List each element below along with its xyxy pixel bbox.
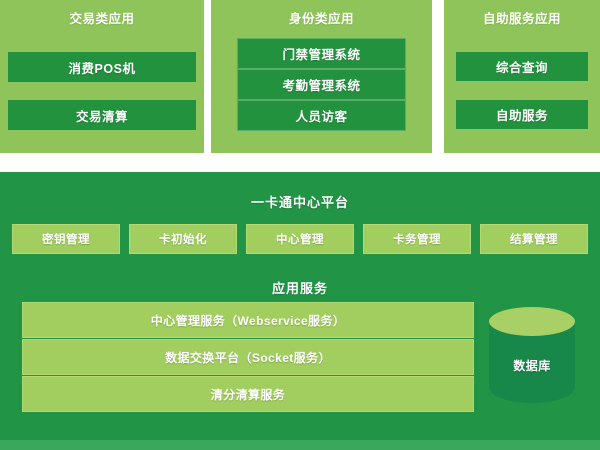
panel-title: 身份类应用 [211,8,432,27]
application-panel-transaction: 交易类应用 消费POS机 交易清算 [0,0,204,153]
application-service-rows: 中心管理服务（Webservice服务） 数据交换平台（Socket服务） 清分… [22,302,474,417]
app-item-box[interactable]: 交易清算 [8,100,196,130]
panel-title: 自助服务应用 [444,8,600,27]
stage-bottom-strip [0,440,600,450]
module-box[interactable]: 中心管理 [246,224,354,254]
database-top-icon [489,307,575,336]
database-label: 数据库 [489,357,575,374]
app-item-box[interactable]: 自助服务 [456,100,588,129]
application-service-title: 应用服务 [0,278,600,297]
module-box[interactable]: 结算管理 [480,224,588,254]
application-panel-identity: 身份类应用 门禁管理系统 考勤管理系统 人员访客 [211,0,432,153]
platform-stage: 一卡通中心平台 密钥管理 卡初始化 中心管理 卡务管理 结算管理 应用服务 中心… [0,172,600,440]
service-row[interactable]: 中心管理服务（Webservice服务） [22,302,474,338]
module-box[interactable]: 密钥管理 [12,224,120,254]
module-box[interactable]: 卡务管理 [363,224,471,254]
app-item-box[interactable]: 综合查询 [456,52,588,81]
app-item-box[interactable]: 考勤管理系统 [237,69,406,100]
app-item-box[interactable]: 消费POS机 [8,52,196,82]
service-row[interactable]: 清分清算服务 [22,376,474,412]
database-cylinder[interactable]: 数据库 [489,307,575,412]
app-item-box[interactable]: 门禁管理系统 [237,38,406,69]
service-row[interactable]: 数据交换平台（Socket服务） [22,339,474,375]
app-item-box[interactable]: 人员访客 [237,100,406,131]
module-box[interactable]: 卡初始化 [129,224,237,254]
center-platform-title: 一卡通中心平台 [0,192,600,211]
center-platform-modules: 密钥管理 卡初始化 中心管理 卡务管理 结算管理 [12,224,588,254]
architecture-diagram: 交易类应用 消费POS机 交易清算 身份类应用 门禁管理系统 考勤管理系统 人员… [0,0,600,450]
application-panel-selfservice: 自助服务应用 综合查询 自助服务 [444,0,600,153]
panel-title: 交易类应用 [0,8,204,27]
